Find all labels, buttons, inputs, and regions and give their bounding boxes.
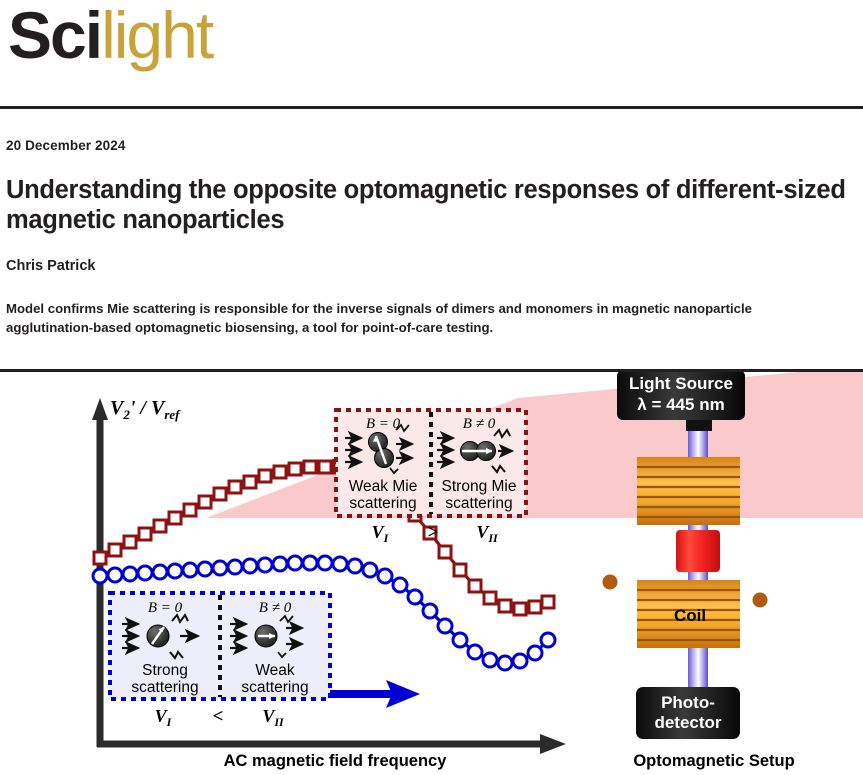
publication-date: 20 December 2024	[6, 138, 125, 153]
page-title: Understanding the opposite optomagnetic …	[6, 176, 854, 236]
article-standfirst: Model confirms Mie scattering is respons…	[6, 300, 806, 337]
x-axis-caption: AC magnetic field frequency	[100, 752, 570, 771]
inset-dimer-right-field: B ≠ 0	[463, 416, 496, 432]
figure-graphic: V2' / Vref	[0, 372, 863, 775]
inset-dimer-right-cap2: scattering	[445, 495, 512, 512]
logo-sci-text: Sci	[8, 0, 101, 72]
inset-monomer-left-cap1: Strong	[142, 662, 188, 679]
wire-terminal-right	[753, 593, 768, 608]
header-divider	[0, 106, 863, 109]
inset-dimer-left-field: B = 0	[366, 416, 401, 432]
detector-label-2: detector	[654, 713, 721, 732]
logo-light-text: light	[101, 0, 212, 72]
inset-dimer-left-cap1: Weak Mie	[349, 478, 418, 495]
inset-monomer-relation-op: <	[213, 706, 224, 727]
inset-monomer-right-cap1: Weak	[255, 662, 295, 679]
detector-label-1: Photo-	[661, 693, 715, 712]
inset-monomer-relation-right: VII	[262, 706, 285, 729]
coil-label: Coil	[674, 606, 706, 625]
photodetector-box: Photo- detector	[636, 687, 740, 739]
scilight-article-page: Scilight 20 December 2024 Understanding …	[0, 0, 863, 775]
inset-monomer-right-field: B ≠ 0	[259, 600, 292, 616]
light-source-label-1: Light Source	[629, 374, 733, 393]
setup-caption: Optomagnetic Setup	[565, 752, 863, 771]
figure-container: V2' / Vref	[0, 372, 863, 775]
inset-monomer-relation-left: VI	[155, 706, 173, 729]
inset-monomer-panel: B = 0 B ≠ 0	[110, 593, 330, 729]
svg-text:V2' / Vref: V2' / Vref	[110, 397, 181, 422]
inset-dimer-relation-op: >	[428, 522, 439, 543]
inset-monomer-left-cap2: scattering	[131, 679, 198, 696]
coil-lower: Coil	[637, 580, 740, 648]
y-axis-label: V2' / Vref	[110, 397, 181, 422]
inset-dimer-right-cap1: Strong Mie	[442, 478, 517, 495]
author-name[interactable]: Chris Patrick	[6, 258, 95, 274]
monomer-callout-arrow	[327, 680, 420, 708]
scilight-logo[interactable]: Scilight	[8, 2, 212, 68]
coil-upper	[637, 457, 740, 525]
inset-monomer-right-cap2: scattering	[241, 679, 308, 696]
wire-terminal-left	[603, 575, 618, 590]
light-source-label-2: λ = 445 nm	[637, 395, 724, 414]
inset-dimer-left-cap2: scattering	[349, 495, 416, 512]
sample-cuvette	[676, 530, 720, 572]
